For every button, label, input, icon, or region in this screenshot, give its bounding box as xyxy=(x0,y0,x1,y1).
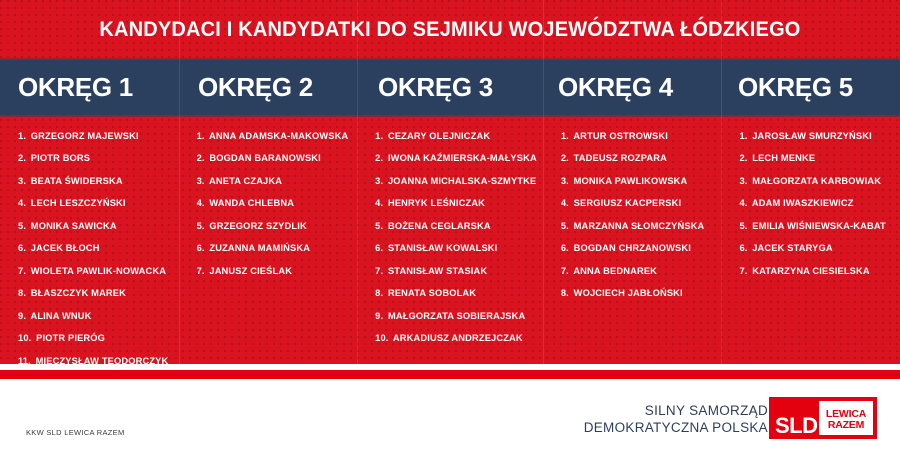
candidate-number: 8. xyxy=(18,288,26,298)
candidate-number: 7. xyxy=(739,266,747,276)
candidate-name: BOGDAN BARANOWSKI xyxy=(209,153,321,163)
candidate-item: 4. ADAM IWASZKIEWICZ xyxy=(739,199,894,208)
candidate-number: 5. xyxy=(375,221,383,231)
candidate-name: ANNA BEDNAREK xyxy=(573,266,657,276)
candidate-name: LECH MENKE xyxy=(752,153,815,163)
red-accent-stripe xyxy=(0,370,900,379)
candidate-column-3: 1. CEZARY OLEJNICZAK2. IWONA KAŹMIERSKA-… xyxy=(357,117,543,364)
candidate-number: 1. xyxy=(739,131,747,141)
candidate-name: BOŻENA CEGLARSKA xyxy=(388,221,491,231)
candidate-number: 2. xyxy=(197,153,205,163)
candidate-name: WANDA CHLEBNA xyxy=(209,198,294,208)
candidate-item: 1. ANNA ADAMSKA-MAKOWSKA xyxy=(197,132,352,141)
candidate-name: ALINA WNUK xyxy=(30,311,91,321)
candidate-name: JAROSŁAW SMURZYŃSKI xyxy=(752,131,872,141)
candidate-number: 3. xyxy=(739,176,747,186)
district-header-1: OKRĘG 1 xyxy=(0,58,180,117)
candidate-item: 2. BOGDAN BARANOWSKI xyxy=(197,154,352,163)
candidate-number: 3. xyxy=(18,176,26,186)
candidate-name: ANNA ADAMSKA-MAKOWSKA xyxy=(209,131,348,141)
candidate-number: 3. xyxy=(375,176,383,186)
candidate-number: 8. xyxy=(375,288,383,298)
candidate-item: 4. HENRYK LEŚNICZAK xyxy=(375,199,537,208)
poster-root: KANDYDACI I KANDYDATKI DO SEJMIKU WOJEWÓ… xyxy=(0,0,900,449)
candidate-item: 6. ZUZANNA MAMIŃSKA xyxy=(197,244,352,253)
candidate-item: 5. EMILIA WIŚNIEWSKA-KABAT xyxy=(739,222,894,231)
candidate-item: 6. JACEK STARYGA xyxy=(739,244,894,253)
candidate-item: 7. JANUSZ CIEŚLAK xyxy=(197,267,352,276)
candidate-item: 2. IWONA KAŹMIERSKA-MAŁYSKA xyxy=(375,154,537,163)
slogan-line-2: DEMOKRATYCZNA POLSKA xyxy=(584,419,768,436)
candidate-name: MONIKA PAWLIKOWSKA xyxy=(574,176,688,186)
candidate-number: 7. xyxy=(197,266,205,276)
candidate-item: 7. KATARZYNA CIESIELSKA xyxy=(739,267,894,276)
candidate-column-4: 1. ARTUR OSTROWSKI2. TADEUSZ ROZPARA3. M… xyxy=(543,117,722,364)
candidate-name: ARTUR OSTROWSKI xyxy=(573,131,668,141)
candidate-name: ANETA CZAJKA xyxy=(209,176,282,186)
lewica-razem-badge: LEWICA RAZEM xyxy=(819,401,873,435)
candidate-name: KATARZYNA CIESIELSKA xyxy=(752,266,870,276)
candidate-columns: 1. GRZEGORZ MAJEWSKI2. PIOTR BORS3. BEAT… xyxy=(0,117,900,364)
candidate-number: 4. xyxy=(18,198,26,208)
candidate-item: 4. LECH LESZCZYŃSKI xyxy=(18,199,173,208)
candidate-number: 4. xyxy=(739,198,747,208)
district-header-5: OKRĘG 5 xyxy=(720,58,900,117)
candidate-number: 7. xyxy=(18,266,26,276)
committee-label: KKW SLD LEWICA RAZEM xyxy=(26,428,125,437)
candidate-item: 10. ARKADIUSZ ANDRZEJCZAK xyxy=(375,334,537,343)
district-header-3: OKRĘG 3 xyxy=(360,58,540,117)
candidate-name: HENRYK LEŚNICZAK xyxy=(388,198,485,208)
candidate-item: 3. BEATA ŚWIDERSKA xyxy=(18,177,173,186)
candidate-name: IWONA KAŹMIERSKA-MAŁYSKA xyxy=(388,153,537,163)
candidate-name: BŁASZCZYK MAREK xyxy=(31,288,126,298)
district-header-band: OKRĘG 1 OKRĘG 2 OKRĘG 3 OKRĘG 4 OKRĘG 5 xyxy=(0,58,900,117)
candidate-item: 5. BOŻENA CEGLARSKA xyxy=(375,222,537,231)
candidate-item: 9. ALINA WNUK xyxy=(18,312,173,321)
sld-logo-text: SLD xyxy=(775,415,818,437)
razem-label: RAZEM xyxy=(828,420,864,432)
candidate-number: 6. xyxy=(375,243,383,253)
candidate-number: 9. xyxy=(18,311,26,321)
candidate-item: 6. JACEK BŁOCH xyxy=(18,244,173,253)
candidate-name: EMILIA WIŚNIEWSKA-KABAT xyxy=(752,221,886,231)
district-header-4: OKRĘG 4 xyxy=(540,58,720,117)
candidate-number: 3. xyxy=(197,176,205,186)
candidate-name: TADEUSZ ROZPARA xyxy=(574,153,667,163)
candidate-number: 9. xyxy=(375,311,383,321)
candidate-column-1: 1. GRZEGORZ MAJEWSKI2. PIOTR BORS3. BEAT… xyxy=(0,117,179,364)
candidate-name: CEZARY OLEJNICZAK xyxy=(388,131,490,141)
candidate-number: 1. xyxy=(18,131,26,141)
candidate-item: 3. JOANNA MICHALSKA-SZMYTKE xyxy=(375,177,537,186)
candidate-item: 5. MARZANNA SŁOMCZYŃSKA xyxy=(561,222,716,231)
candidate-number: 2. xyxy=(375,153,383,163)
candidate-number: 8. xyxy=(561,288,569,298)
candidate-name: STANISŁAW KOWALSKI xyxy=(388,243,497,253)
candidate-item: 5. GRZEGORZ SZYDLIK xyxy=(197,222,352,231)
candidate-name: JACEK STARYGA xyxy=(752,243,832,253)
candidate-number: 10. xyxy=(18,333,31,343)
candidate-name: MAŁGORZATA SOBIERAJSKA xyxy=(388,311,525,321)
candidate-number: 11. xyxy=(18,356,31,364)
candidate-item: 8. BŁASZCZYK MAREK xyxy=(18,289,173,298)
page-title: KANDYDACI I KANDYDATKI DO SEJMIKU WOJEWÓ… xyxy=(99,17,800,42)
candidate-item: 9. MAŁGORZATA SOBIERAJSKA xyxy=(375,312,537,321)
candidate-item: 2. LECH MENKE xyxy=(739,154,894,163)
candidate-number: 1. xyxy=(375,131,383,141)
candidate-name: BOGDAN CHRZANOWSKI xyxy=(574,243,691,253)
candidate-name: MAŁGORZATA KARBOWIAK xyxy=(752,176,881,186)
district-header-label: OKRĘG 5 xyxy=(738,72,853,103)
candidate-item: 1. CEZARY OLEJNICZAK xyxy=(375,132,537,141)
candidate-item: 7. STANISŁAW STASIAK xyxy=(375,267,537,276)
candidate-item: 10. PIOTR PIERÓG xyxy=(18,334,173,343)
candidate-name: LECH LESZCZYŃSKI xyxy=(31,198,126,208)
poster-body: KANDYDACI I KANDYDATKI DO SEJMIKU WOJEWÓ… xyxy=(0,0,900,364)
candidate-name: STANISŁAW STASIAK xyxy=(388,266,487,276)
candidate-item: 2. TADEUSZ ROZPARA xyxy=(561,154,716,163)
candidate-name: MIECZYSŁAW TEODORCZYK xyxy=(36,356,169,364)
slogan: SILNY SAMORZĄD DEMOKRATYCZNA POLSKA xyxy=(584,402,768,437)
candidate-item: 4. WANDA CHLEBNA xyxy=(197,199,352,208)
candidate-column-5: 1. JAROSŁAW SMURZYŃSKI2. LECH MENKE3. MA… xyxy=(721,117,900,364)
candidate-number: 3. xyxy=(561,176,569,186)
candidate-name: WIOLETA PAWLIK-NOWACKA xyxy=(31,266,166,276)
candidate-name: PIOTR PIERÓG xyxy=(36,333,105,343)
candidate-item: 4. SERGIUSZ KACPERSKI xyxy=(561,199,716,208)
candidate-column-2: 1. ANNA ADAMSKA-MAKOWSKA2. BOGDAN BARANO… xyxy=(179,117,358,364)
title-band: KANDYDACI I KANDYDATKI DO SEJMIKU WOJEWÓ… xyxy=(0,0,900,58)
candidate-item: 6. BOGDAN CHRZANOWSKI xyxy=(561,244,716,253)
candidate-item: 1. ARTUR OSTROWSKI xyxy=(561,132,716,141)
candidate-item: 11. MIECZYSŁAW TEODORCZYK xyxy=(18,357,173,364)
candidate-item: 7. ANNA BEDNAREK xyxy=(561,267,716,276)
candidate-name: ZUZANNA MAMIŃSKA xyxy=(209,243,310,253)
candidate-number: 5. xyxy=(561,221,569,231)
candidate-name: MONIKA SAWICKA xyxy=(31,221,117,231)
candidate-item: 3. MONIKA PAWLIKOWSKA xyxy=(561,177,716,186)
candidate-name: JACEK BŁOCH xyxy=(31,243,100,253)
candidate-item: 8. RENATA SOBOLAK xyxy=(375,289,537,298)
candidate-number: 2. xyxy=(739,153,747,163)
candidate-name: BEATA ŚWIDERSKA xyxy=(31,176,123,186)
candidate-number: 5. xyxy=(18,221,26,231)
candidate-number: 2. xyxy=(18,153,26,163)
candidate-number: 5. xyxy=(197,221,205,231)
candidate-name: GRZEGORZ SZYDLIK xyxy=(209,221,306,231)
candidate-number: 2. xyxy=(561,153,569,163)
district-header-label: OKRĘG 1 xyxy=(18,72,133,103)
candidate-item: 8. WOJCIECH JABŁOŃSKI xyxy=(561,289,716,298)
candidate-number: 1. xyxy=(197,131,205,141)
candidate-item: 3. ANETA CZAJKA xyxy=(197,177,352,186)
candidate-item: 6. STANISŁAW KOWALSKI xyxy=(375,244,537,253)
candidate-name: GRZEGORZ MAJEWSKI xyxy=(31,131,139,141)
candidate-item: 1. GRZEGORZ MAJEWSKI xyxy=(18,132,173,141)
candidate-name: WOJCIECH JABŁOŃSKI xyxy=(574,288,683,298)
candidate-item: 2. PIOTR BORS xyxy=(18,154,173,163)
candidate-number: 4. xyxy=(375,198,383,208)
slogan-line-1: SILNY SAMORZĄD xyxy=(584,402,768,419)
district-header-label: OKRĘG 3 xyxy=(378,72,493,103)
candidate-item: 3. MAŁGORZATA KARBOWIAK xyxy=(739,177,894,186)
candidate-number: 1. xyxy=(561,131,569,141)
candidate-name: ADAM IWASZKIEWICZ xyxy=(752,198,854,208)
district-header-label: OKRĘG 4 xyxy=(558,72,673,103)
candidate-number: 10. xyxy=(375,333,388,343)
candidate-number: 6. xyxy=(197,243,205,253)
candidate-number: 5. xyxy=(739,221,747,231)
sld-logo: SLD LEWICA RAZEM xyxy=(769,397,877,439)
candidate-name: ARKADIUSZ ANDRZEJCZAK xyxy=(393,333,523,343)
candidate-number: 6. xyxy=(739,243,747,253)
candidate-name: JOANNA MICHALSKA-SZMYTKE xyxy=(388,176,536,186)
candidate-name: SERGIUSZ KACPERSKI xyxy=(574,198,682,208)
candidate-name: JANUSZ CIEŚLAK xyxy=(209,266,292,276)
candidate-name: RENATA SOBOLAK xyxy=(388,288,476,298)
candidate-name: MARZANNA SŁOMCZYŃSKA xyxy=(574,221,705,231)
candidate-number: 7. xyxy=(375,266,383,276)
candidate-item: 1. JAROSŁAW SMURZYŃSKI xyxy=(739,132,894,141)
candidate-number: 7. xyxy=(561,266,569,276)
candidate-number: 4. xyxy=(197,198,205,208)
district-header-label: OKRĘG 2 xyxy=(198,72,313,103)
candidate-number: 6. xyxy=(561,243,569,253)
district-header-2: OKRĘG 2 xyxy=(180,58,360,117)
candidate-number: 4. xyxy=(561,198,569,208)
candidate-number: 6. xyxy=(18,243,26,253)
candidate-name: PIOTR BORS xyxy=(31,153,90,163)
candidate-item: 7. WIOLETA PAWLIK-NOWACKA xyxy=(18,267,173,276)
candidate-item: 5. MONIKA SAWICKA xyxy=(18,222,173,231)
